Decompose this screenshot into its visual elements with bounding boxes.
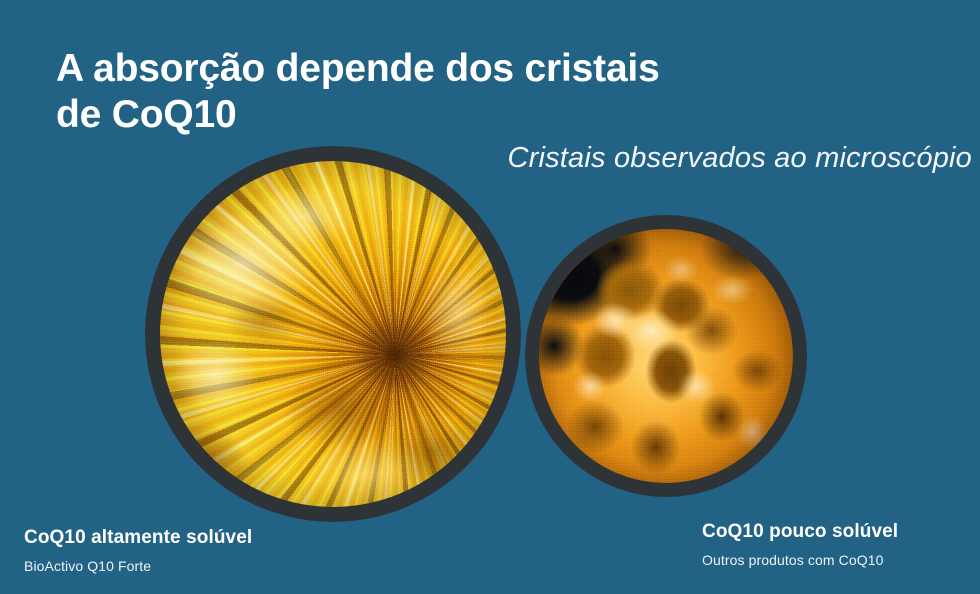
lens-vignette-right bbox=[539, 229, 793, 483]
page-title: A absorção depende dos cristais de CoQ10 bbox=[56, 46, 816, 138]
scope-lens-left bbox=[160, 161, 506, 507]
scope-lens-right bbox=[539, 229, 793, 483]
banner-canvas: A absorção depende dos cristais de CoQ10… bbox=[0, 0, 980, 594]
lens-vignette-left bbox=[160, 161, 506, 507]
caption-right-heading: CoQ10 pouco solúvel bbox=[702, 521, 898, 543]
caption-right: CoQ10 pouco solúvel Outros produtos com … bbox=[702, 521, 898, 568]
microscope-circle-soluble bbox=[145, 146, 521, 522]
caption-left-sub: BioActivo Q10 Forte bbox=[24, 558, 252, 574]
caption-left: CoQ10 altamente solúvel BioActivo Q10 Fo… bbox=[24, 527, 252, 574]
microscope-label: Cristais observados ao microscópio bbox=[507, 142, 972, 175]
caption-left-heading: CoQ10 altamente solúvel bbox=[24, 527, 252, 549]
microscope-circle-insoluble bbox=[525, 215, 807, 497]
caption-right-sub: Outros produtos com CoQ10 bbox=[702, 552, 898, 568]
